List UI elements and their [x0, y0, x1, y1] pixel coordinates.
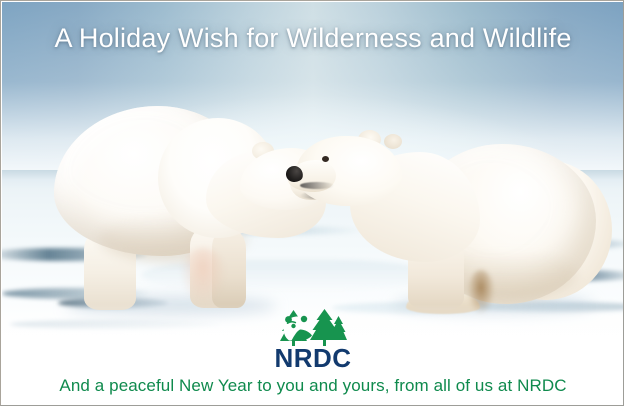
footer-greeting-text: And a peaceful New Year to you and yours…	[59, 376, 566, 396]
polar-bear-left	[54, 98, 322, 298]
bear-ear	[384, 134, 402, 149]
holiday-ecard: A Holiday Wish for Wilderness and Wildli…	[0, 0, 624, 406]
page-title: A Holiday Wish for Wilderness and Wildli…	[1, 23, 624, 54]
bear-eye	[322, 156, 329, 162]
bear-fur-highlight	[180, 248, 226, 304]
footer-band: And a peaceful New Year to you and yours…	[2, 368, 624, 404]
polar-bear-right	[288, 130, 578, 310]
bear-mouth	[300, 182, 334, 189]
nrdc-logo: NRDC	[1, 307, 624, 371]
nrdc-bear-and-trees-icon	[279, 307, 347, 347]
